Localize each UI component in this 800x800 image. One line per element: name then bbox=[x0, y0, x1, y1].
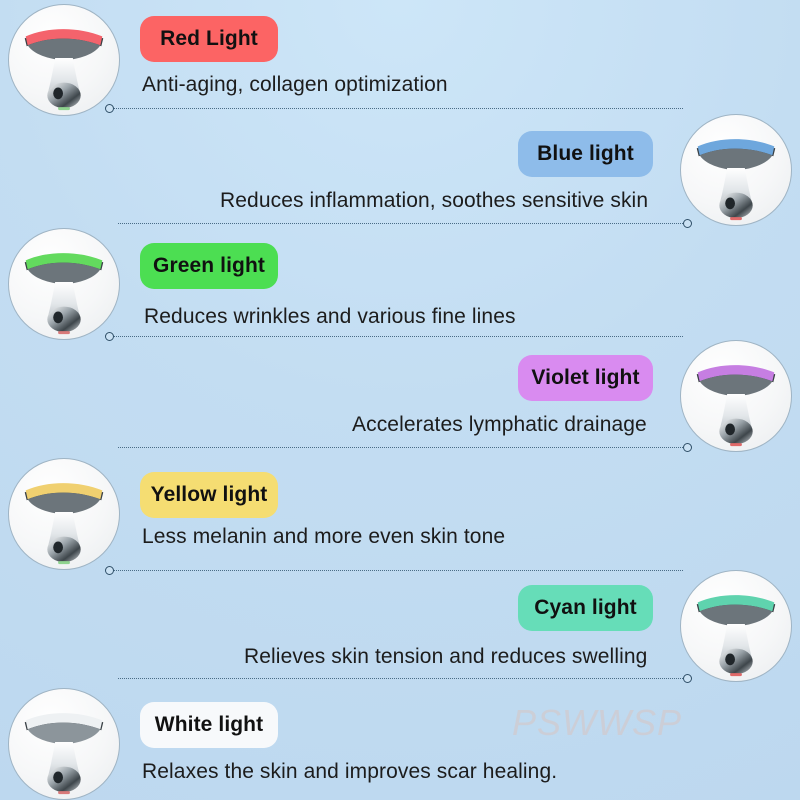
connector-violet bbox=[118, 443, 691, 453]
badge-label: Green light bbox=[153, 254, 265, 278]
badge-label: Yellow light bbox=[151, 483, 268, 507]
connector-line bbox=[118, 223, 691, 224]
connector-yellow bbox=[106, 566, 683, 576]
badge-white[interactable]: White light bbox=[140, 702, 278, 748]
description-yellow: Less melanin and more even skin tone bbox=[142, 525, 505, 549]
badge-label: White light bbox=[155, 713, 263, 737]
description-red: Anti-aging, collagen optimization bbox=[142, 73, 448, 97]
connector-blue bbox=[118, 219, 691, 229]
badge-green[interactable]: Green light bbox=[140, 243, 278, 289]
neck-device-cyan-icon bbox=[681, 571, 791, 681]
device-circle-red bbox=[8, 4, 120, 116]
badge-blue[interactable]: Blue light bbox=[518, 131, 653, 177]
neck-device-yellow-icon bbox=[9, 459, 119, 569]
neck-device-violet-icon bbox=[681, 341, 791, 451]
neck-device-blue-icon bbox=[681, 115, 791, 225]
connector-line bbox=[118, 447, 691, 448]
badge-yellow[interactable]: Yellow light bbox=[140, 472, 278, 518]
connector-line bbox=[106, 108, 683, 109]
device-circle-green bbox=[8, 228, 120, 340]
connector-endpoint-dot bbox=[683, 674, 692, 683]
light-therapy-infographic: Red Light Anti-aging, collagen optimizat… bbox=[0, 0, 800, 800]
connector-cyan bbox=[118, 674, 691, 684]
device-circle-yellow bbox=[8, 458, 120, 570]
connector-endpoint-dot bbox=[683, 443, 692, 452]
connector-line bbox=[106, 570, 683, 571]
badge-label: Red Light bbox=[160, 27, 258, 51]
connector-endpoint-dot bbox=[105, 566, 114, 575]
neck-device-red-icon bbox=[9, 5, 119, 115]
connector-endpoint-dot bbox=[105, 104, 114, 113]
badge-cyan[interactable]: Cyan light bbox=[518, 585, 653, 631]
badge-label: Blue light bbox=[537, 142, 634, 166]
badge-red[interactable]: Red Light bbox=[140, 16, 278, 62]
description-white: Relaxes the skin and improves scar heali… bbox=[142, 760, 557, 784]
badge-label: Cyan light bbox=[534, 596, 637, 620]
badge-label: Violet light bbox=[531, 366, 639, 390]
description-cyan: Relieves skin tension and reduces swelli… bbox=[244, 645, 647, 669]
connector-line bbox=[118, 678, 691, 679]
connector-endpoint-dot bbox=[105, 332, 114, 341]
connector-endpoint-dot bbox=[683, 219, 692, 228]
description-violet: Accelerates lymphatic drainage bbox=[352, 413, 647, 437]
device-circle-white bbox=[8, 688, 120, 800]
neck-device-white-icon bbox=[9, 689, 119, 799]
description-green: Reduces wrinkles and various fine lines bbox=[144, 305, 516, 329]
badge-violet[interactable]: Violet light bbox=[518, 355, 653, 401]
neck-device-green-icon bbox=[9, 229, 119, 339]
description-blue: Reduces inflammation, soothes sensitive … bbox=[220, 189, 648, 213]
device-circle-cyan bbox=[680, 570, 792, 682]
device-circle-blue bbox=[680, 114, 792, 226]
connector-line bbox=[106, 336, 683, 337]
connector-red bbox=[106, 104, 683, 114]
watermark: PSWWSP bbox=[512, 702, 682, 744]
device-circle-violet bbox=[680, 340, 792, 452]
connector-green bbox=[106, 332, 683, 342]
